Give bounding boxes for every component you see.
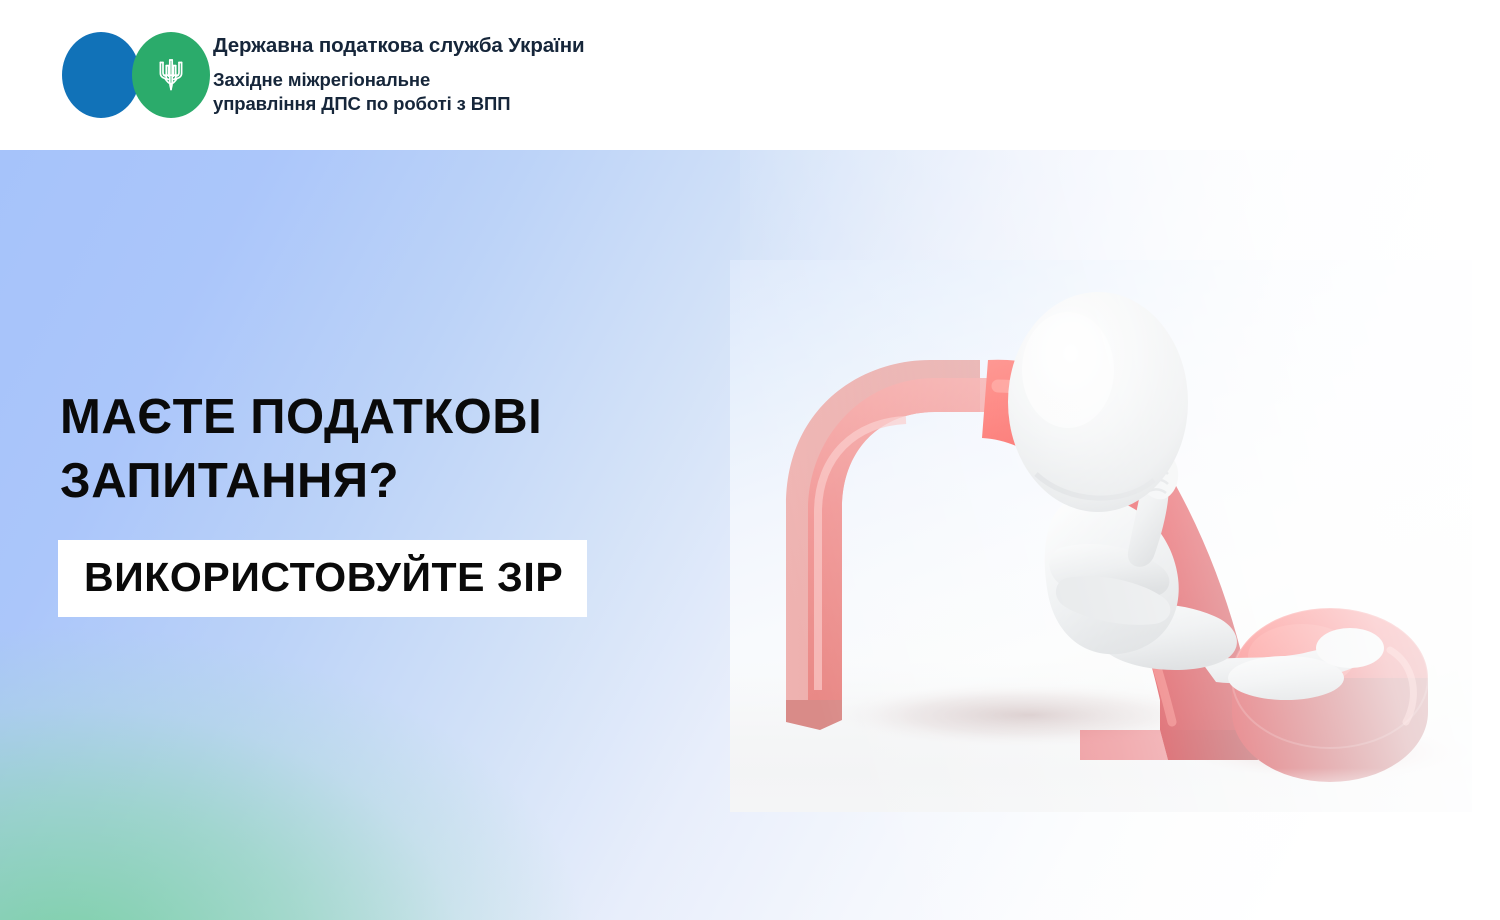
organization-subtitle-line-2: управління ДПС по роботі з ВПП	[213, 92, 585, 116]
banner-headline-line-2: ЗАПИТАННЯ?	[60, 450, 542, 514]
organization-subtitle: Західне міжрегіональне управління ДПС по…	[213, 68, 585, 116]
banner-headline: МАЄТЕ ПОДАТКОВІ ЗАПИТАННЯ?	[60, 386, 542, 513]
site-header: Державна податкова служба України Західн…	[0, 0, 1500, 150]
banner-highlight-band: ВИКОРИСТОВУЙТЕ ЗІР	[58, 540, 587, 617]
organization-title: Державна податкова служба України	[213, 34, 585, 58]
banner-page: Державна податкова служба України Західн…	[0, 0, 1500, 920]
organization-subtitle-line-1: Західне міжрегіональне	[213, 68, 585, 92]
logo-blue-circle-icon	[62, 32, 140, 118]
question-mark-figure-graphic	[730, 260, 1472, 812]
ukrainian-trident-icon	[156, 55, 186, 95]
banner-headline-line-1: МАЄТЕ ПОДАТКОВІ	[60, 386, 542, 450]
logo-green-circle-icon	[132, 32, 210, 118]
banner-highlight-text: ВИКОРИСТОВУЙТЕ ЗІР	[84, 554, 563, 600]
hero-banner: МАЄТЕ ПОДАТКОВІ ЗАПИТАННЯ? ВИКОРИСТОВУЙТ…	[0, 150, 1500, 920]
dps-logo[interactable]	[62, 32, 210, 118]
header-text-block: Державна податкова служба України Західн…	[213, 34, 585, 116]
question-mark-illustration	[730, 260, 1472, 812]
